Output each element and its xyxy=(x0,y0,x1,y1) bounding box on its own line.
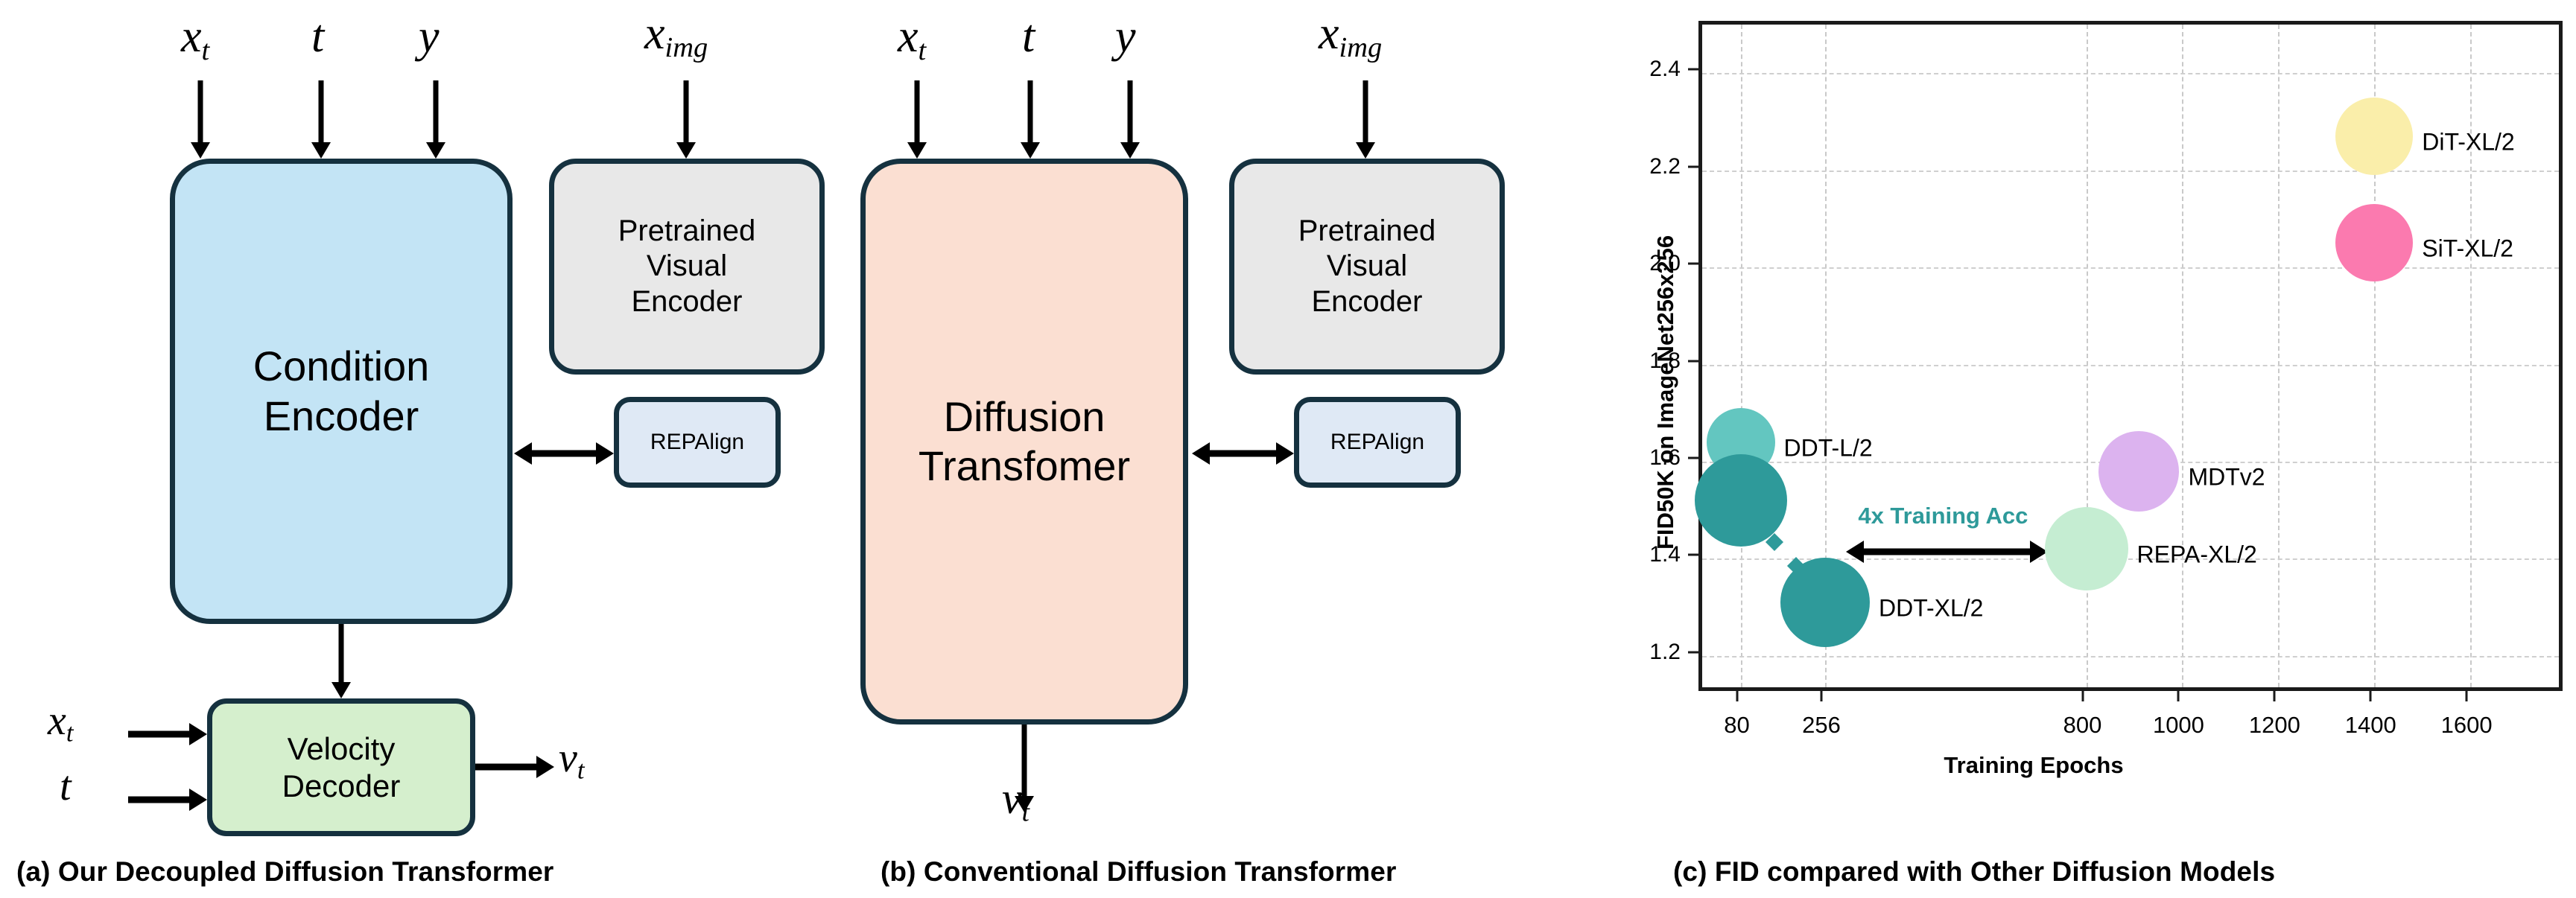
velocity-decoder-line2: Decoder xyxy=(282,768,401,805)
pve-line2-a: Visual xyxy=(647,249,727,284)
arrow-t-to-transformer-b xyxy=(1021,80,1040,159)
repalign-label-a: REPAlign xyxy=(650,429,744,455)
chart-plot-area: 4x Training AccDDT-L/2DDT-XL/2REPA-XL/2M… xyxy=(1698,21,2563,691)
chart-x-tick-mark xyxy=(2274,691,2276,701)
chart-x-axis-label: Training Epochs xyxy=(1944,752,2123,779)
arrow-encoder-repalign-a xyxy=(514,442,614,465)
pve-line2-b: Visual xyxy=(1327,249,1407,284)
pretrained-visual-encoder-box-b: Pretrained Visual Encoder xyxy=(1229,159,1505,375)
chart-gridline-vertical xyxy=(1741,25,1742,687)
diffusion-transformer-line1: Diffusion xyxy=(944,392,1105,442)
output-label-vt-a: vt xyxy=(559,737,585,783)
chart-x-tick-mark xyxy=(2177,691,2180,701)
chart-bubble-ddt-xl-2[interactable] xyxy=(1780,558,1870,647)
condition-encoder-box: Condition Encoder xyxy=(170,159,513,624)
input-label-y-b: y xyxy=(1115,13,1136,60)
chart-point-label: DDT-XL/2 xyxy=(1879,595,1983,622)
velocity-decoder-line1: Velocity xyxy=(288,730,396,768)
chart-y-tick-label: 2.0 xyxy=(1649,251,1681,276)
pretrained-visual-encoder-box-a: Pretrained Visual Encoder xyxy=(549,159,825,375)
chart-gridline-horizontal xyxy=(1702,171,2559,172)
panel-c-chart: 4x Training AccDDT-L/2DDT-XL/2REPA-XL/2M… xyxy=(1624,0,2576,898)
input-label-ximg-a: ximg xyxy=(644,10,708,62)
chart-x-tick-label: 256 xyxy=(1802,712,1841,739)
chart-bubble-dit-xl-2[interactable] xyxy=(2335,98,2413,175)
chart-x-tick-label: 1600 xyxy=(2441,712,2493,739)
arrow-ximg-to-visual-encoder-a xyxy=(676,80,696,159)
chart-y-tick-mark xyxy=(1688,456,1698,459)
diffusion-transformer-line2: Transfomer xyxy=(919,442,1130,491)
chart-gridline-horizontal xyxy=(1702,267,2559,269)
arrow-encoder-to-decoder-a xyxy=(331,624,351,698)
repalign-label-b: REPAlign xyxy=(1330,429,1424,455)
chart-gridline-horizontal xyxy=(1702,73,2559,74)
chart-speedup-arrow xyxy=(1846,541,2048,563)
chart-x-tick-mark xyxy=(2466,691,2468,701)
arrow-xt-to-decoder xyxy=(128,724,207,745)
chart-y-tick-label: 1.8 xyxy=(1649,348,1681,374)
chart-y-tick-label: 2.2 xyxy=(1649,154,1681,179)
chart-y-tick-label: 1.4 xyxy=(1649,542,1681,567)
chart-bubble-sit-xl-2[interactable] xyxy=(2335,204,2413,281)
decoder-input-xt: xt xyxy=(48,700,74,746)
chart-y-tick-mark xyxy=(1688,554,1698,556)
input-label-t-b: t xyxy=(1022,13,1035,60)
arrow-t-to-decoder xyxy=(128,789,207,810)
arrow-decoder-to-vt xyxy=(475,757,554,777)
repalign-box-a: REPAlign xyxy=(614,397,781,488)
arrow-ximg-to-visual-encoder-b xyxy=(1356,80,1375,159)
input-label-t-a: t xyxy=(311,13,324,60)
repalign-box-b: REPAlign xyxy=(1294,397,1461,488)
caption-panel-c: (c) FID compared with Other Diffusion Mo… xyxy=(1673,856,2275,888)
pve-line1-b: Pretrained xyxy=(1298,214,1436,249)
arrow-y-to-transformer-b xyxy=(1120,80,1140,159)
chart-y-tick-label: 1.2 xyxy=(1649,640,1681,665)
pve-line3-b: Encoder xyxy=(1312,284,1423,319)
chart-bubble-mdtv2[interactable] xyxy=(2098,431,2179,512)
chart-gridline-vertical xyxy=(2470,25,2472,687)
caption-panel-b: (b) Conventional Diffusion Transformer xyxy=(881,856,1396,888)
input-label-ximg-b: ximg xyxy=(1319,10,1382,62)
pve-line3-a: Encoder xyxy=(632,284,743,319)
chart-x-tick-label: 80 xyxy=(1724,712,1749,739)
arrow-transformer-repalign-b xyxy=(1192,442,1294,465)
chart-bubble-repa-xl-2[interactable] xyxy=(2045,507,2128,590)
chart-x-tick-label: 1200 xyxy=(2249,712,2300,739)
chart-gridline-horizontal xyxy=(1702,365,2559,366)
velocity-decoder-box: Velocity Decoder xyxy=(207,698,475,836)
input-label-xt-a: xt xyxy=(181,13,209,65)
chart-x-tick-label: 1000 xyxy=(2153,712,2204,739)
chart-point-label: SiT-XL/2 xyxy=(2422,235,2513,263)
chart-y-axis-label: FID50K on ImageNet256x256 xyxy=(1652,235,1679,550)
chart-gridline-horizontal xyxy=(1702,656,2559,657)
arrow-xt-to-transformer-b xyxy=(907,80,927,159)
chart-x-tick-label: 1400 xyxy=(2345,712,2396,739)
chart-y-tick-mark xyxy=(1688,651,1698,653)
output-label-vt-b: vt xyxy=(1002,776,1030,827)
chart-point-label: MDTv2 xyxy=(2188,464,2265,491)
chart-y-tick-mark xyxy=(1688,69,1698,71)
decoder-input-t: t xyxy=(60,765,72,807)
caption-panel-a: (a) Our Decoupled Diffusion Transformer xyxy=(16,856,553,888)
chart-y-tick-mark xyxy=(1688,165,1698,168)
arrow-t-to-encoder-a xyxy=(311,80,331,159)
chart-x-tick-mark xyxy=(2081,691,2084,701)
chart-bubble-ddt-l-2-b[interactable] xyxy=(1695,454,1787,547)
condition-encoder-line2: Encoder xyxy=(264,392,419,441)
chart-x-tick-mark xyxy=(1736,691,1738,701)
chart-x-tick-label: 800 xyxy=(2063,712,2102,739)
diffusion-transformer-box: Diffusion Transfomer xyxy=(860,159,1188,725)
pve-line1-a: Pretrained xyxy=(618,214,756,249)
chart-speedup-label: 4x Training Acc xyxy=(1858,503,2028,529)
arrow-y-to-encoder-a xyxy=(426,80,445,159)
chart-y-tick-mark xyxy=(1688,263,1698,265)
chart-point-label: REPA-XL/2 xyxy=(2137,541,2257,569)
chart-gridline-vertical xyxy=(2182,25,2183,687)
chart-gridline-vertical xyxy=(2278,25,2280,687)
chart-point-label: DiT-XL/2 xyxy=(2422,129,2514,156)
arrow-xt-to-encoder-a xyxy=(191,80,210,159)
input-label-y-a: y xyxy=(419,13,440,60)
chart-point-label: DDT-L/2 xyxy=(1784,434,1873,462)
chart-x-tick-mark xyxy=(1820,691,1822,701)
condition-encoder-line1: Condition xyxy=(253,342,430,391)
chart-x-tick-mark xyxy=(2370,691,2372,701)
figure-root: xt t y ximg Condition Encoder Pretrained… xyxy=(0,0,2576,898)
chart-y-tick-label: 2.4 xyxy=(1649,57,1681,82)
chart-y-tick-label: 1.6 xyxy=(1649,445,1681,471)
input-label-xt-b: xt xyxy=(898,13,926,65)
chart-y-tick-mark xyxy=(1688,360,1698,362)
